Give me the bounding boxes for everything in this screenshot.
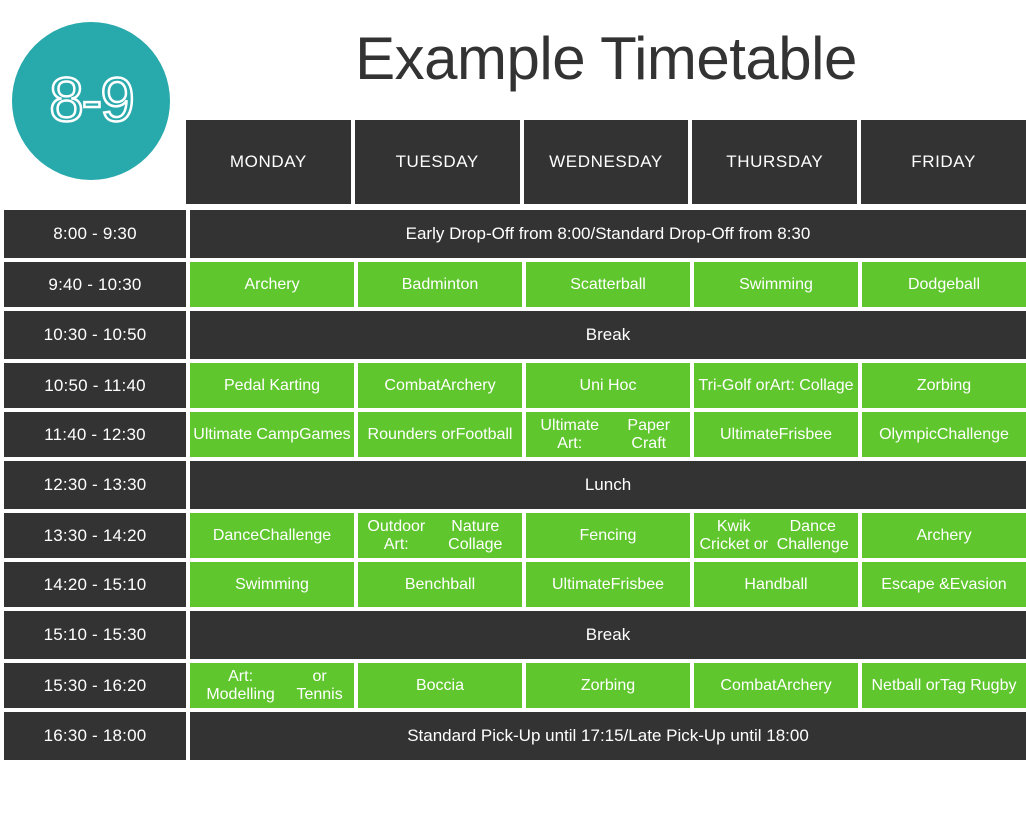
cell-text-line: Tri-Golf or — [699, 377, 770, 395]
time-slot-label: 10:50 - 11:40 — [4, 363, 186, 408]
timetable-row: 10:50 - 11:40Pedal KartingCombatArcheryU… — [0, 363, 1026, 408]
cell-text-line: Outdoor Art: — [361, 518, 432, 554]
timetable-cell[interactable]: UltimateFrisbee — [694, 412, 858, 457]
cell-text-line: Dance — [213, 527, 259, 545]
cell-text-line: Challenge — [259, 527, 331, 545]
timetable-cell[interactable]: CombatArchery — [694, 663, 858, 708]
cell-text-line: Combat — [720, 677, 776, 695]
timetable-cell[interactable]: Scatterball — [526, 262, 690, 307]
timetable-row: 11:40 - 12:30Ultimate CampGamesRounders … — [0, 412, 1026, 457]
timetable-cell[interactable]: Fencing — [526, 513, 690, 558]
cell-text-line: Escape & — [881, 576, 949, 594]
page-title: Example Timetable — [186, 26, 1026, 92]
timetable-cell-full: Break — [190, 311, 1026, 359]
timetable-cell[interactable]: Swimming — [190, 562, 354, 607]
timetable-row: 15:10 - 15:30Break — [0, 611, 1026, 659]
timetable-cell-full: Early Drop-Off from 8:00/Standard Drop-O… — [190, 210, 1026, 258]
cell-text-line: Nature Collage — [432, 518, 519, 554]
cell-text-line: Games — [299, 426, 351, 444]
day-header-wednesday: WEDNESDAY — [524, 120, 689, 204]
timetable-cell[interactable]: Uni Hoc — [526, 363, 690, 408]
timetable-cell[interactable]: Ultimate Art:Paper Craft — [526, 412, 690, 457]
cell-text-line: Frisbee — [611, 576, 664, 594]
cell-text-line: Netball or — [872, 677, 940, 695]
timetable-row: 9:40 - 10:30ArcheryBadmintonScatterballS… — [0, 262, 1026, 307]
cell-text-line: Ultimate — [720, 426, 779, 444]
cell-text-line: Combat — [384, 377, 440, 395]
time-slot-label: 12:30 - 13:30 — [4, 461, 186, 509]
row-cells: Standard Pick-Up until 17:15/Late Pick-U… — [190, 712, 1026, 760]
row-cells: Lunch — [190, 461, 1026, 509]
cell-text-line: Kwik Cricket or — [697, 518, 770, 554]
row-cells: Break — [190, 611, 1026, 659]
cell-text-line: Football — [456, 426, 513, 444]
cell-text-line: Tag Rugby — [940, 677, 1017, 695]
row-cells: Art: Modellingor TennisBocciaZorbingComb… — [190, 663, 1026, 708]
cell-text-line: Art: Collage — [770, 377, 854, 395]
row-cells: Early Drop-Off from 8:00/Standard Drop-O… — [190, 210, 1026, 258]
cell-text-line: Rounders or — [368, 426, 456, 444]
timetable-cell[interactable]: Tri-Golf orArt: Collage — [694, 363, 858, 408]
time-slot-label: 15:30 - 16:20 — [4, 663, 186, 708]
timetable-cell[interactable]: Zorbing — [526, 663, 690, 708]
time-slot-label: 10:30 - 10:50 — [4, 311, 186, 359]
timetable-page: 8-9 Example Timetable MONDAYTUESDAYWEDNE… — [0, 0, 1026, 814]
timetable-row: 8:00 - 9:30Early Drop-Off from 8:00/Stan… — [0, 210, 1026, 258]
cell-text-line: Paper Craft — [610, 417, 687, 453]
timetable-rows: 8:00 - 9:30Early Drop-Off from 8:00/Stan… — [0, 210, 1026, 760]
timetable-row: 16:30 - 18:00Standard Pick-Up until 17:1… — [0, 712, 1026, 760]
time-slot-label: 8:00 - 9:30 — [4, 210, 186, 258]
timetable-cell[interactable]: Rounders orFootball — [358, 412, 522, 457]
timetable-cell[interactable]: Netball orTag Rugby — [862, 663, 1026, 708]
day-header-tuesday: TUESDAY — [355, 120, 520, 204]
row-cells: ArcheryBadmintonScatterballSwimmingDodge… — [190, 262, 1026, 307]
cell-text-line: Ultimate Art: — [529, 417, 610, 453]
day-header-friday: FRIDAY — [861, 120, 1026, 204]
timetable-cell-full: Lunch — [190, 461, 1026, 509]
timetable-cell[interactable]: Outdoor Art:Nature Collage — [358, 513, 522, 558]
cell-text-line: Art: Modelling — [193, 668, 288, 704]
day-header-monday: MONDAY — [186, 120, 351, 204]
timetable-row: 10:30 - 10:50Break — [0, 311, 1026, 359]
timetable-cell[interactable]: Pedal Karting — [190, 363, 354, 408]
timetable-grid: MONDAYTUESDAYWEDNESDAYTHURSDAYFRIDAY 8:0… — [0, 120, 1026, 764]
timetable-cell[interactable]: Boccia — [358, 663, 522, 708]
timetable-cell[interactable]: CombatArchery — [358, 363, 522, 408]
day-header-row: MONDAYTUESDAYWEDNESDAYTHURSDAYFRIDAY — [186, 120, 1026, 204]
row-cells: DanceChallengeOutdoor Art:Nature Collage… — [190, 513, 1026, 558]
row-cells: SwimmingBenchballUltimateFrisbeeHandball… — [190, 562, 1026, 607]
timetable-cell[interactable]: Archery — [862, 513, 1026, 558]
time-slot-label: 9:40 - 10:30 — [4, 262, 186, 307]
timetable-cell[interactable]: OlympicChallenge — [862, 412, 1026, 457]
timetable-cell-full: Break — [190, 611, 1026, 659]
timetable-cell[interactable]: DanceChallenge — [190, 513, 354, 558]
timetable-cell[interactable]: Swimming — [694, 262, 858, 307]
time-slot-label: 13:30 - 14:20 — [4, 513, 186, 558]
row-cells: Pedal KartingCombatArcheryUni HocTri-Gol… — [190, 363, 1026, 408]
time-slot-label: 16:30 - 18:00 — [4, 712, 186, 760]
cell-text-line: Evasion — [950, 576, 1007, 594]
day-header-thursday: THURSDAY — [692, 120, 857, 204]
timetable-cell[interactable]: Archery — [190, 262, 354, 307]
timetable-cell-full: Standard Pick-Up until 17:15/Late Pick-U… — [190, 712, 1026, 760]
time-slot-label: 15:10 - 15:30 — [4, 611, 186, 659]
timetable-cell[interactable]: Escape &Evasion — [862, 562, 1026, 607]
timetable-cell[interactable]: Ultimate CampGames — [190, 412, 354, 457]
cell-text-line: Ultimate Camp — [193, 426, 299, 444]
time-slot-label: 14:20 - 15:10 — [4, 562, 186, 607]
cell-text-line: Olympic — [879, 426, 937, 444]
row-cells: Break — [190, 311, 1026, 359]
timetable-cell[interactable]: Dodgeball — [862, 262, 1026, 307]
cell-text-line: Archery — [440, 377, 495, 395]
timetable-row: 13:30 - 14:20DanceChallengeOutdoor Art:N… — [0, 513, 1026, 558]
timetable-cell[interactable]: Handball — [694, 562, 858, 607]
timetable-cell[interactable]: Zorbing — [862, 363, 1026, 408]
timetable-cell[interactable]: UltimateFrisbee — [526, 562, 690, 607]
timetable-cell[interactable]: Kwik Cricket orDance Challenge — [694, 513, 858, 558]
cell-text-line: Frisbee — [779, 426, 832, 444]
cell-text-line: Ultimate — [552, 576, 611, 594]
cell-text-line: Dance Challenge — [770, 518, 855, 554]
timetable-row: 14:20 - 15:10SwimmingBenchballUltimateFr… — [0, 562, 1026, 607]
cell-text-line: Challenge — [937, 426, 1009, 444]
timetable-row: 12:30 - 13:30Lunch — [0, 461, 1026, 509]
timetable-row: 15:30 - 16:20Art: Modellingor TennisBocc… — [0, 663, 1026, 708]
timetable-cell[interactable]: Art: Modellingor Tennis — [190, 663, 354, 708]
timetable-cell[interactable]: Benchball — [358, 562, 522, 607]
cell-text-line: or Tennis — [288, 668, 351, 704]
time-slot-label: 11:40 - 12:30 — [4, 412, 186, 457]
cell-text-line: Archery — [776, 677, 831, 695]
timetable-cell[interactable]: Badminton — [358, 262, 522, 307]
page-header: 8-9 Example Timetable — [0, 0, 1026, 120]
row-cells: Ultimate CampGamesRounders orFootballUlt… — [190, 412, 1026, 457]
